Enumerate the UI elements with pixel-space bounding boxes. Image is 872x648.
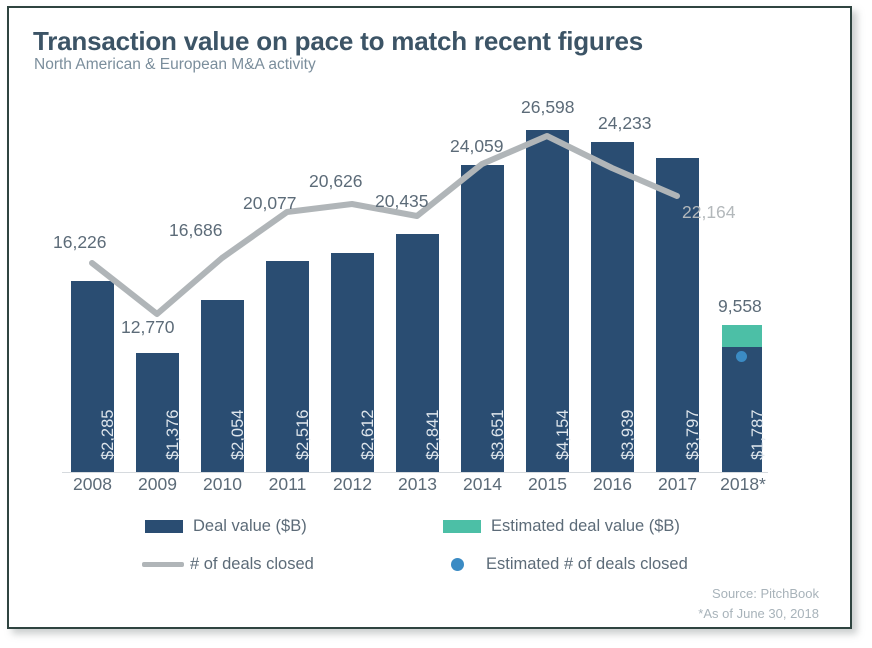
line-value-label-2015: 26,598 (521, 97, 575, 118)
legend-label-estimated-deal-value: Estimated deal value ($B) (491, 517, 680, 536)
chart-card: Transaction value on pace to match recen… (7, 6, 852, 629)
bar-value-label-2015: $4,154 (554, 410, 573, 460)
x-tick-2016: 2016 (586, 474, 639, 495)
chart-plot-area: $2,285 $1,376 $2,054 $2,516 $2,612 $2,84… (9, 8, 850, 627)
x-tick-2012: 2012 (326, 474, 379, 495)
legend-item-estimated-deal-value[interactable]: Estimated deal value ($B) (443, 517, 680, 536)
bar-2018-estimated-segment (722, 325, 762, 347)
x-tick-2014: 2014 (456, 474, 509, 495)
line-value-label-2014: 24,059 (450, 136, 504, 157)
x-tick-2015: 2015 (521, 474, 574, 495)
legend-item-deals-closed[interactable]: # of deals closed (142, 555, 314, 574)
legend-swatch-estimated-deal-value (443, 520, 481, 533)
estimated-deals-value-label-2018: 9,558 (718, 296, 762, 317)
x-tick-2017: 2017 (651, 474, 704, 495)
legend-label-deal-value: Deal value ($B) (193, 517, 307, 536)
bar-value-label-2010: $2,054 (229, 410, 248, 460)
x-tick-2008: 2008 (66, 474, 119, 495)
legend-swatch-deals-closed-line (142, 562, 184, 567)
x-tick-2011: 2011 (261, 474, 314, 495)
legend-item-deal-value[interactable]: Deal value ($B) (145, 517, 307, 536)
line-value-label-2012: 20,626 (309, 171, 363, 192)
as-of-note: *As of June 30, 2018 (698, 606, 819, 621)
legend-item-estimated-deals-closed[interactable]: Estimated # of deals closed (451, 555, 688, 574)
x-tick-2018: 2018* (714, 474, 772, 495)
bar-value-label-2014: $3,651 (489, 410, 508, 460)
bar-value-label-2008: $2,285 (99, 410, 118, 460)
x-axis-line (62, 472, 768, 473)
line-value-label-2016: 24,233 (598, 113, 652, 134)
line-value-label-2017: 22,164 (682, 202, 736, 223)
bar-value-label-2011: $2,516 (294, 410, 313, 460)
legend-label-estimated-deals-closed: Estimated # of deals closed (486, 555, 688, 574)
line-value-label-2011: 20,077 (243, 193, 297, 214)
legend-swatch-estimated-deals-dot (451, 558, 464, 571)
bar-value-label-2013: $2,841 (424, 410, 443, 460)
bar-value-label-2018: $1,787 (749, 410, 768, 460)
bar-value-label-2012: $2,612 (359, 410, 378, 460)
line-value-label-2010: 16,686 (169, 220, 223, 241)
x-tick-2013: 2013 (391, 474, 444, 495)
line-value-label-2009: 12,770 (121, 317, 175, 338)
bar-value-label-2016: $3,939 (619, 410, 638, 460)
bar-value-label-2009: $1,376 (164, 410, 183, 460)
bar-value-label-2017: $3,797 (684, 410, 703, 460)
legend-swatch-deal-value (145, 520, 183, 533)
x-tick-2009: 2009 (131, 474, 184, 495)
line-value-label-2008: 16,226 (53, 232, 107, 253)
line-value-label-2013: 20,435 (375, 191, 429, 212)
legend-label-deals-closed: # of deals closed (190, 555, 314, 574)
x-tick-2010: 2010 (196, 474, 249, 495)
source-note: Source: PitchBook (712, 586, 819, 601)
estimated-deals-dot-marker (736, 351, 747, 362)
